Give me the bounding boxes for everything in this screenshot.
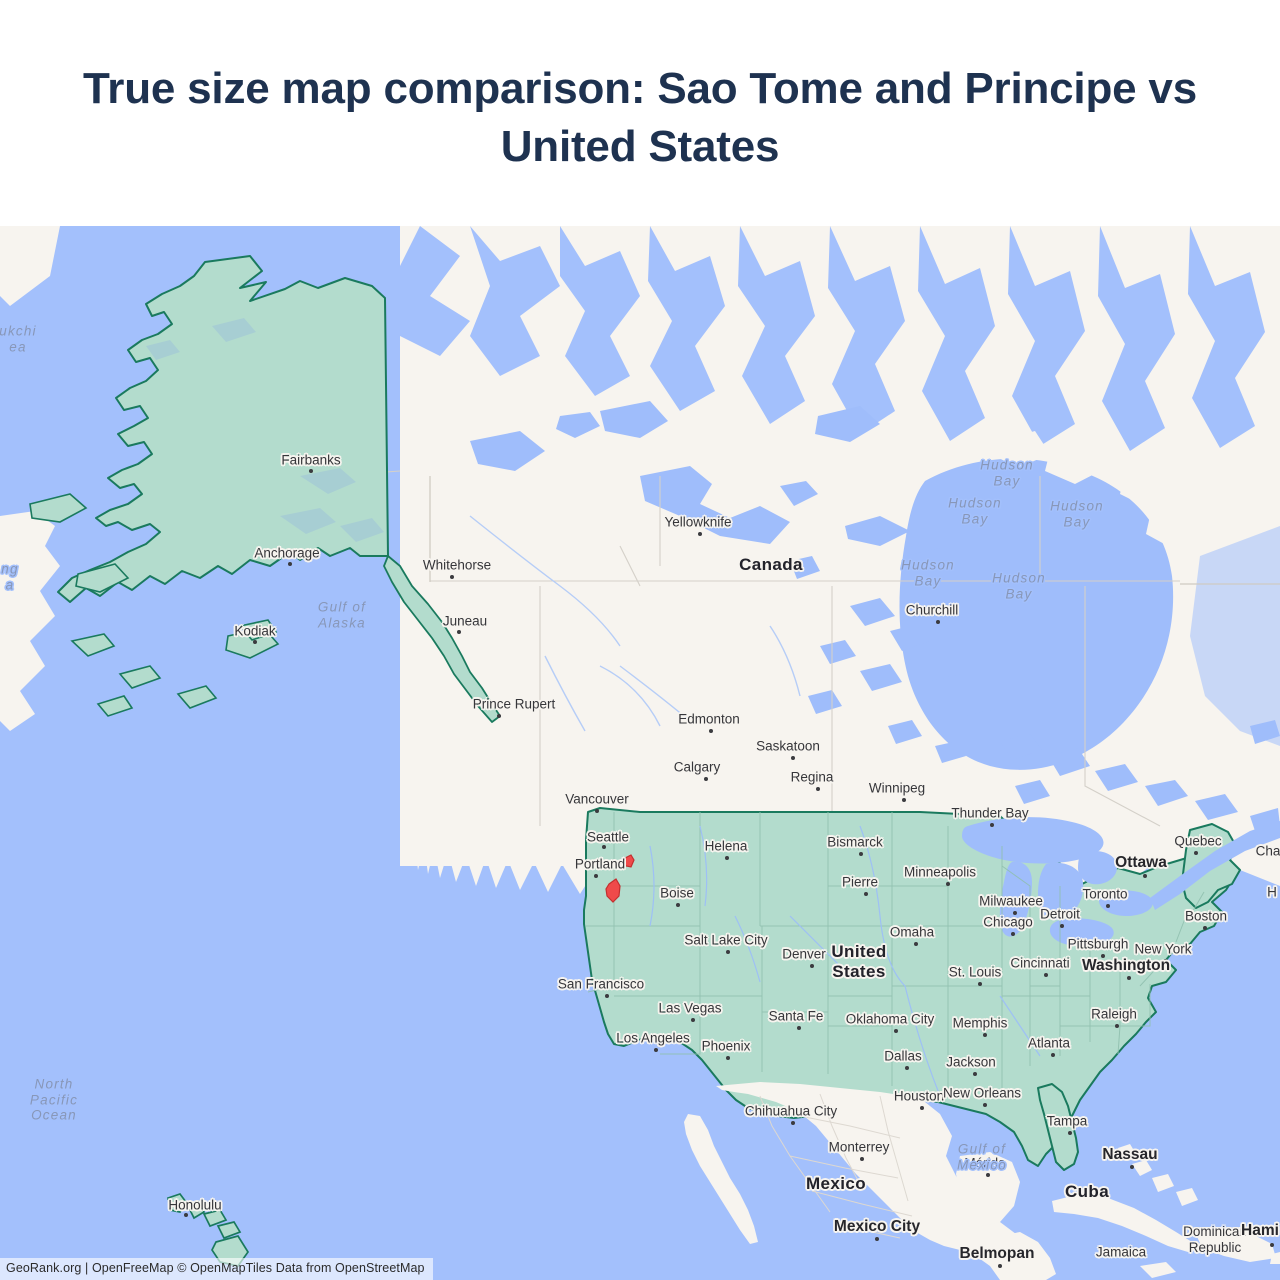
map-canvas[interactable]: FairbanksAnchorageKodiakJuneauWhitehorse… <box>0 226 1280 1280</box>
map-geometry <box>0 226 1280 1280</box>
true-size-map-page: True size map comparison: Sao Tome and P… <box>0 0 1280 1280</box>
title-block: True size map comparison: Sao Tome and P… <box>0 0 1280 226</box>
page-title: True size map comparison: Sao Tome and P… <box>80 50 1200 176</box>
map-attribution[interactable]: GeoRank.org | OpenFreeMap © OpenMapTiles… <box>0 1258 433 1280</box>
